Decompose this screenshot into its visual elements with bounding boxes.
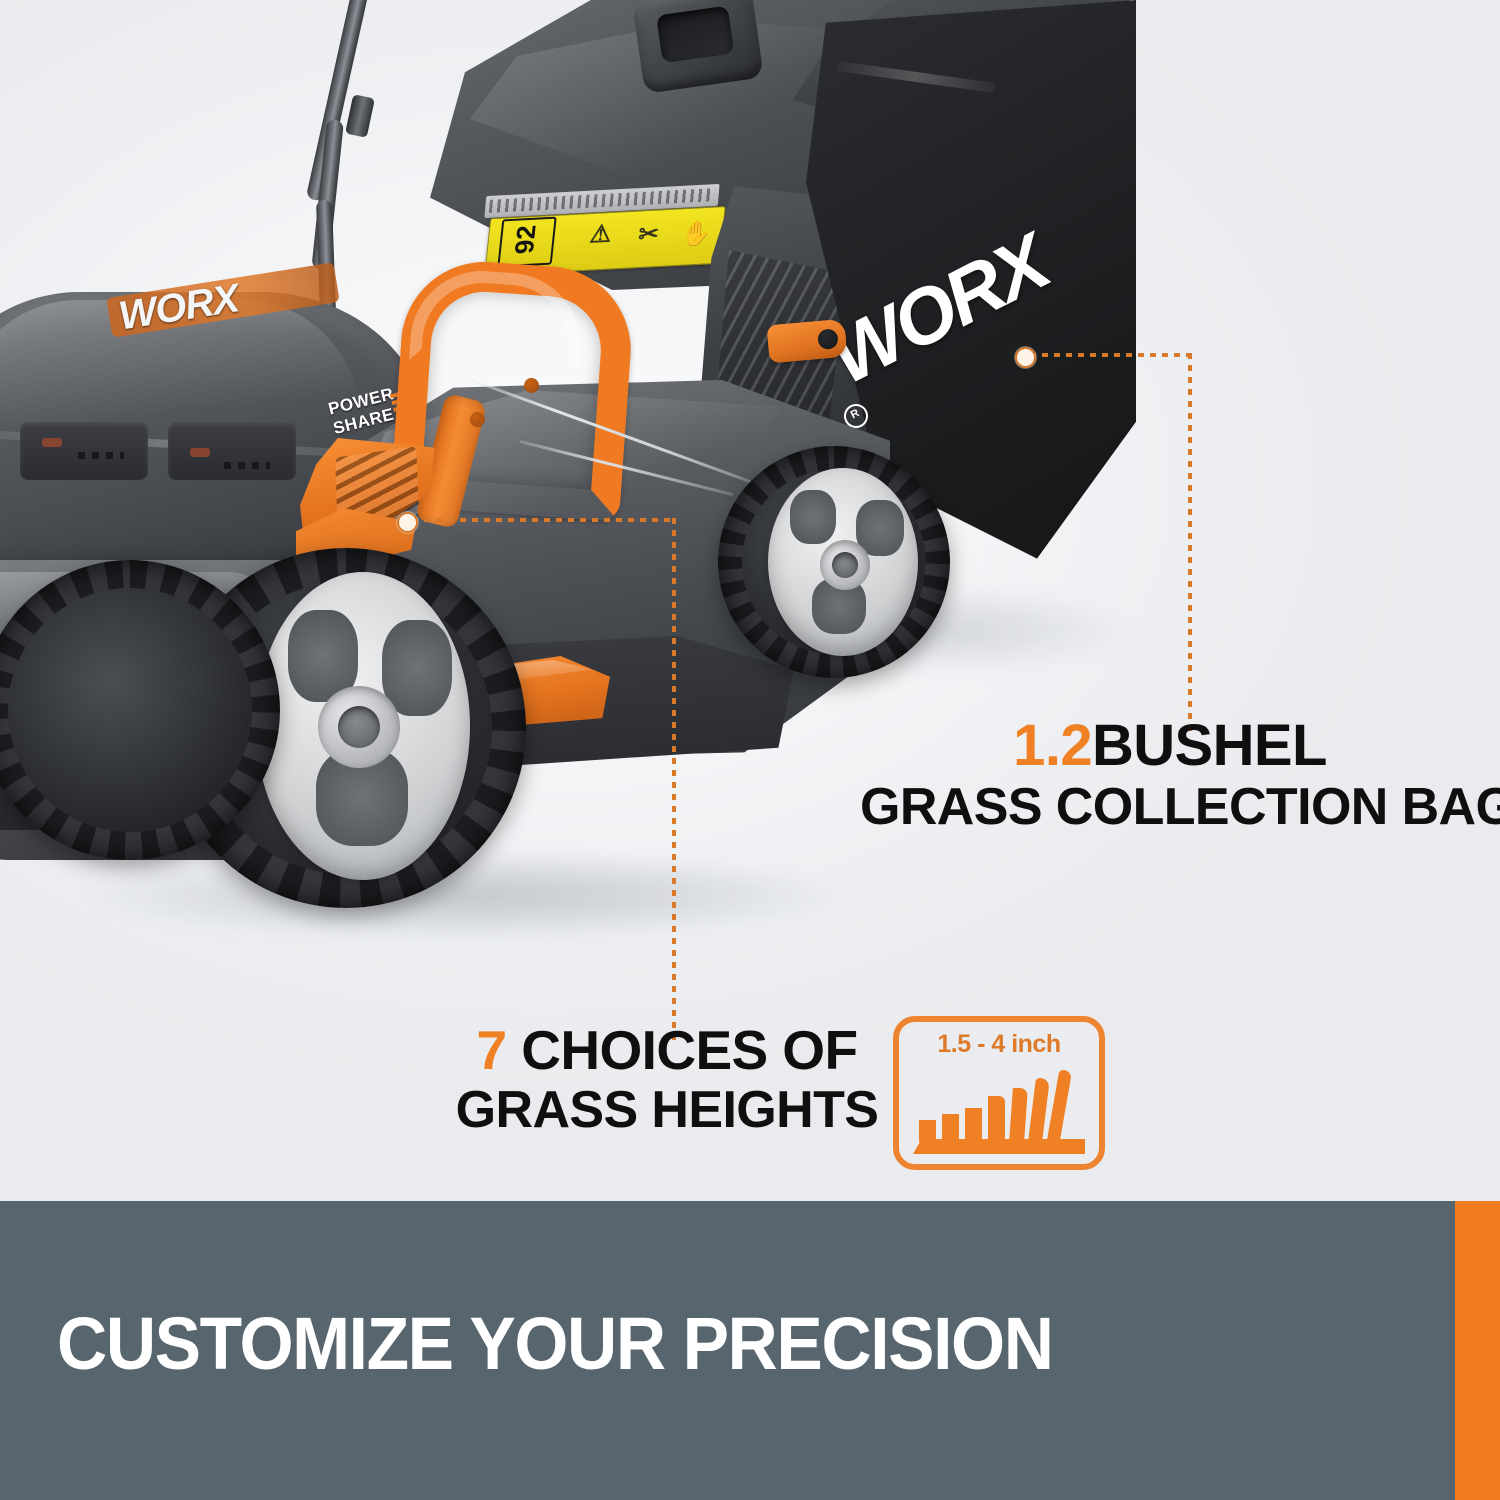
bag-release-clip — [766, 319, 847, 364]
product-feature-image: 92 ⚠ ✂ ✋ WORX R — [0, 0, 1500, 1500]
handle-clamp — [345, 94, 375, 138]
callout-bag-line2: GRASS COLLECTION BAG — [860, 781, 1480, 834]
sound-power-value: 92 — [509, 224, 543, 255]
callout-bag-line1: 1.2BUSHEL — [860, 716, 1480, 775]
battery-charge-dots — [78, 452, 124, 459]
handle-screw — [524, 378, 539, 393]
leader-line-heights-vertical — [672, 518, 676, 1046]
product-photo-stage: 92 ⚠ ✂ ✋ WORX R — [0, 0, 1500, 1201]
grass-blade-7 — [1047, 1070, 1073, 1142]
battery-charge-dots — [224, 462, 270, 469]
callout-heights-line2: GRASS HEIGHTS — [452, 1084, 882, 1137]
sound-power-box: 92 — [497, 217, 556, 268]
handle-screw — [470, 412, 485, 427]
battery-pack-right — [168, 422, 296, 480]
grass-blade-3 — [965, 1108, 982, 1142]
grass-blade-6 — [1028, 1078, 1050, 1142]
bottom-banner: CUSTOMIZE YOUR PRECISION — [0, 1201, 1500, 1500]
banner-headline: CUSTOMIZE YOUR PRECISION — [57, 1301, 1053, 1386]
battery-pack-left — [20, 422, 148, 480]
rear-hub-hole — [832, 552, 858, 578]
grass-height-badge: 1.5 - 4 inch — [893, 1016, 1105, 1170]
grass-height-range-label: 1.5 - 4 inch — [899, 1030, 1099, 1059]
callout-grass-heights: 7 CHOICES OF GRASS HEIGHTS — [452, 1022, 882, 1137]
leader-dot-heights — [397, 512, 418, 533]
callout-bag-unit: BUSHEL — [1092, 713, 1327, 778]
grass-blade-4 — [988, 1096, 1005, 1142]
leader-line-bag-horizontal — [1030, 353, 1192, 357]
callout-grass-collection-bag: 1.2BUSHEL GRASS COLLECTION BAG — [860, 716, 1480, 834]
hub-spoke-gap — [790, 490, 836, 544]
banner-accent-stripe — [1455, 1201, 1500, 1500]
callout-heights-number: 7 — [477, 1019, 507, 1081]
grass-blades-icon — [913, 1070, 1085, 1154]
callout-heights-rest: CHOICES OF — [521, 1019, 857, 1081]
leader-line-bag-vertical — [1188, 353, 1192, 731]
callout-bag-number: 1.2 — [1013, 713, 1092, 778]
front-hub-hole — [338, 706, 380, 748]
carry-handle — [632, 0, 764, 94]
warning-pictogram-2: ✂ — [626, 219, 671, 261]
battery-indicator-led — [190, 448, 210, 457]
grass-blade-5 — [1009, 1088, 1028, 1142]
warning-pictogram-1: ⚠ — [578, 219, 623, 261]
leader-line-heights-horizontal — [412, 518, 676, 522]
front-left-tire-inner — [8, 588, 252, 832]
grass-blade-1 — [919, 1120, 936, 1142]
grass-blade-2 — [942, 1114, 959, 1142]
callout-heights-line1: 7 CHOICES OF — [452, 1022, 882, 1078]
warning-pictogram-3: ✋ — [674, 219, 719, 261]
hub-spoke-gap — [382, 620, 452, 716]
leader-dot-bag — [1015, 347, 1036, 368]
battery-indicator-led — [42, 438, 62, 447]
